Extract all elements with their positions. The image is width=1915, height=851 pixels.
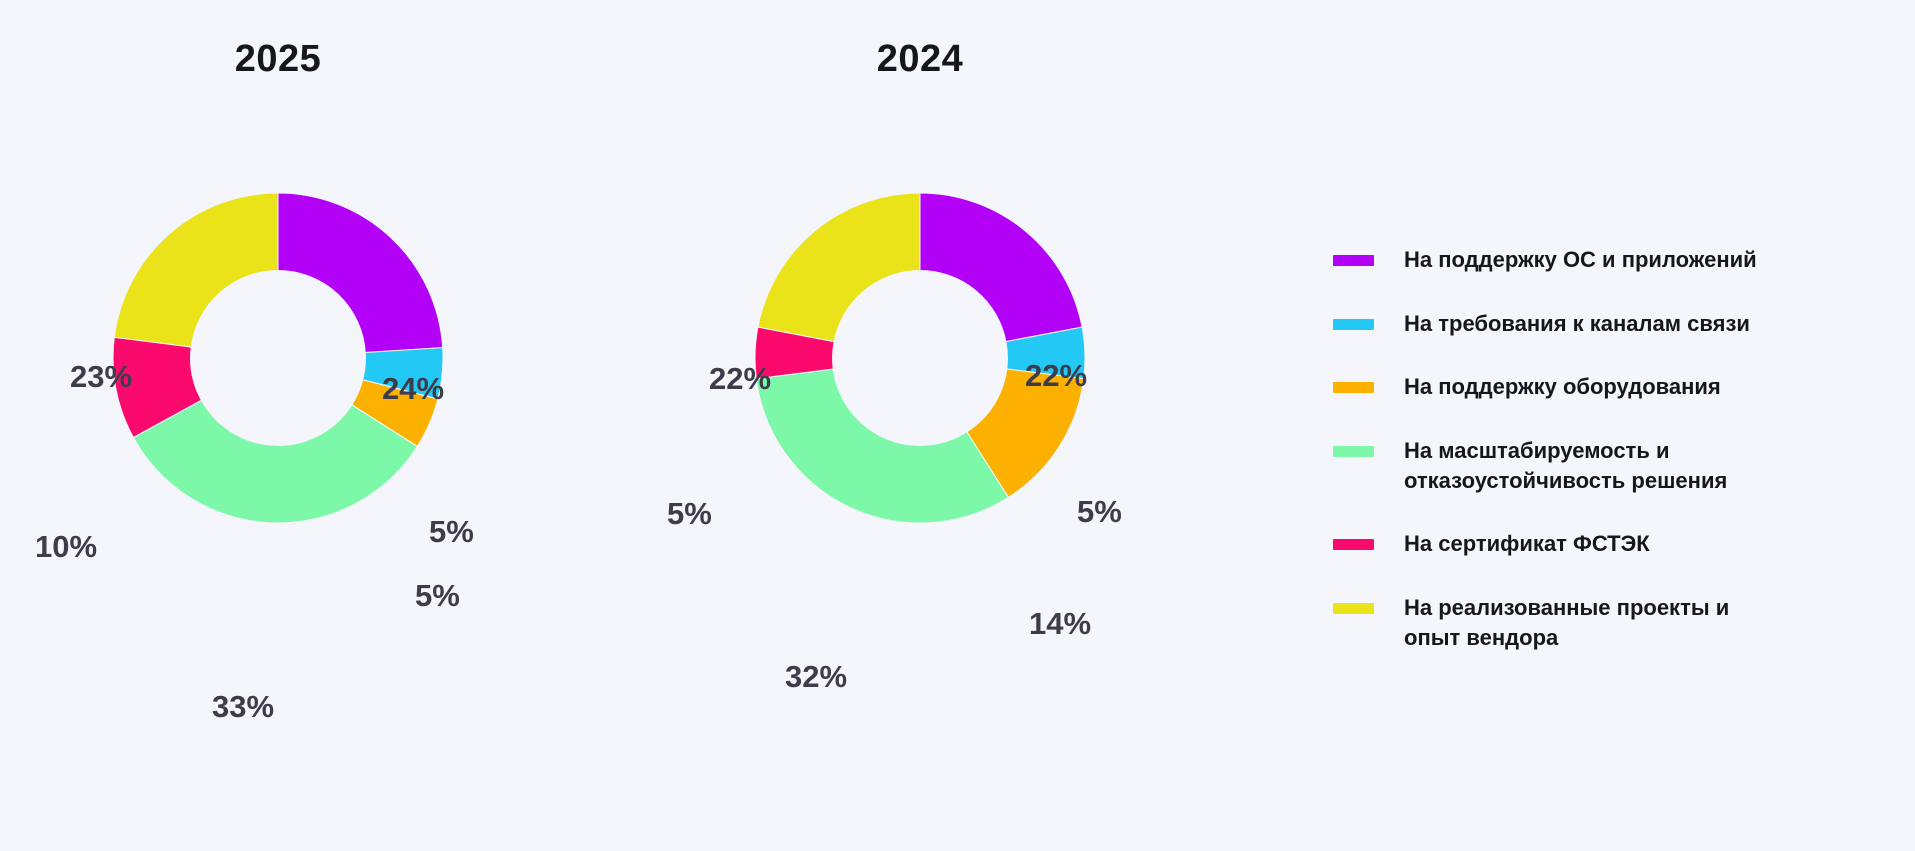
legend-swatch-icon [1333,382,1374,393]
donut-chart-figure: 2025 24%5%5%33%10%23% 2024 22%5%14%32%5%… [0,0,1915,851]
legend-label: На требования к каналам связи [1404,309,1750,339]
legend-swatch-icon [1333,446,1374,457]
donut-slice[interactable] [758,193,920,342]
slice-percent-label: 5% [667,498,712,529]
slice-percent-label: 24% [382,373,444,404]
legend-item[interactable]: На масштабируемость иотказоустойчивость … [1333,436,1833,495]
slice-percent-label: 32% [785,661,847,692]
page-title-2024: 2024 [642,40,1198,78]
slice-percent-label: 33% [212,691,274,722]
slice-percent-label: 22% [1025,360,1087,391]
legend-swatch-icon [1333,255,1374,266]
donut-svg-2025 [113,193,443,523]
legend-swatch-icon [1333,319,1374,330]
chart-panel-2025: 2025 24%5%5%33%10%23% [0,0,640,700]
legend-item[interactable]: На требования к каналам связи [1333,309,1833,339]
legend-item[interactable]: На поддержку ОС и приложений [1333,245,1833,275]
legend-label: На поддержку оборудования [1404,372,1721,402]
slice-percent-label: 22% [709,363,771,394]
slice-percent-label: 10% [35,531,97,562]
donut-slice[interactable] [756,369,1008,523]
slice-percent-label: 14% [1029,608,1091,639]
legend-item[interactable]: На поддержку оборудования [1333,372,1833,402]
legend-swatch-icon [1333,539,1374,550]
page-title-2025: 2025 [0,40,556,78]
donut-2025: 24%5%5%33%10%23% [113,193,443,523]
legend-item[interactable]: На реализованные проекты иопыт вендора [1333,593,1833,652]
chart-legend: На поддержку ОС и приложенийНа требовани… [1333,245,1833,687]
legend-label: На масштабируемость иотказоустойчивость … [1404,436,1727,495]
legend-item[interactable]: На сертификат ФСТЭК [1333,529,1833,559]
donut-slice[interactable] [278,193,443,353]
donut-slice[interactable] [920,193,1082,342]
slice-percent-label: 5% [429,516,474,547]
slice-percent-label: 23% [70,361,132,392]
chart-panel-2024: 2024 22%5%14%32%5%22% [642,0,1282,700]
legend-label: На сертификат ФСТЭК [1404,529,1650,559]
slice-percent-label: 5% [415,580,460,611]
slice-percent-label: 5% [1077,496,1122,527]
legend-swatch-icon [1333,603,1374,614]
donut-2024: 22%5%14%32%5%22% [755,193,1085,523]
legend-label: На поддержку ОС и приложений [1404,245,1757,275]
legend-label: На реализованные проекты иопыт вендора [1404,593,1729,652]
donut-slice[interactable] [114,193,278,347]
